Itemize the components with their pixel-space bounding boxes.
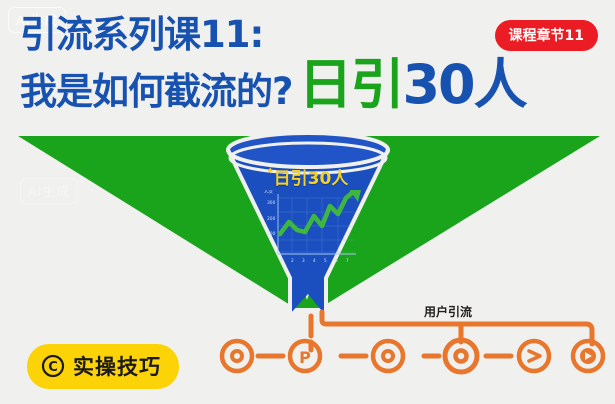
- svg-text:P: P: [299, 348, 311, 367]
- chart-line-series: [280, 192, 353, 234]
- svg-text:3: 3: [302, 258, 305, 263]
- headline-highlight-green: 日引: [298, 60, 402, 110]
- mini-line-chart: 人次 300 200 100 12 34 56 7: [258, 190, 362, 268]
- svg-text:4: 4: [313, 258, 316, 263]
- poster-canvas: AI生成 AI生成 引流系列课11: 我是如何截流的? 日引 30人 课程章节1…: [0, 0, 615, 404]
- svg-text:100: 100: [267, 231, 276, 237]
- copyright-icon: C: [41, 354, 65, 378]
- chart-y-tick-labels: 人次 300 200 100: [264, 190, 276, 237]
- svg-text:C: C: [48, 360, 58, 375]
- node-dot-2[interactable]: [373, 341, 403, 371]
- chapter-badge[interactable]: 课程章节11: [495, 20, 598, 51]
- svg-text:200: 200: [267, 216, 276, 222]
- chart-x-tick-labels: 12 34 56 7: [280, 258, 349, 263]
- headline-highlight-blue: 30人: [402, 60, 525, 110]
- skill-badge-label: 实操技巧: [73, 351, 161, 381]
- svg-text:6: 6: [335, 258, 338, 263]
- svg-text:1: 1: [280, 258, 283, 263]
- headline-line-2-text: 我是如何截流的?: [20, 73, 292, 110]
- svg-text:2: 2: [291, 258, 294, 263]
- flow-label: 用户引流: [424, 303, 472, 320]
- node-p[interactable]: P: [290, 341, 320, 371]
- svg-text:300: 300: [267, 200, 276, 206]
- node-dot-3[interactable]: [445, 340, 477, 372]
- svg-text:5: 5: [324, 258, 327, 263]
- sparkle-icon: ✦: [266, 166, 274, 177]
- svg-text:7: 7: [346, 258, 349, 263]
- skill-badge[interactable]: C 实操技巧: [27, 344, 179, 389]
- node-play-2[interactable]: [573, 341, 603, 371]
- headline-line-2: 我是如何截流的? 日引 30人: [20, 60, 600, 110]
- svg-text:人次: 人次: [264, 190, 273, 195]
- node-play-1[interactable]: [519, 341, 549, 371]
- node-dot-1[interactable]: [222, 341, 252, 371]
